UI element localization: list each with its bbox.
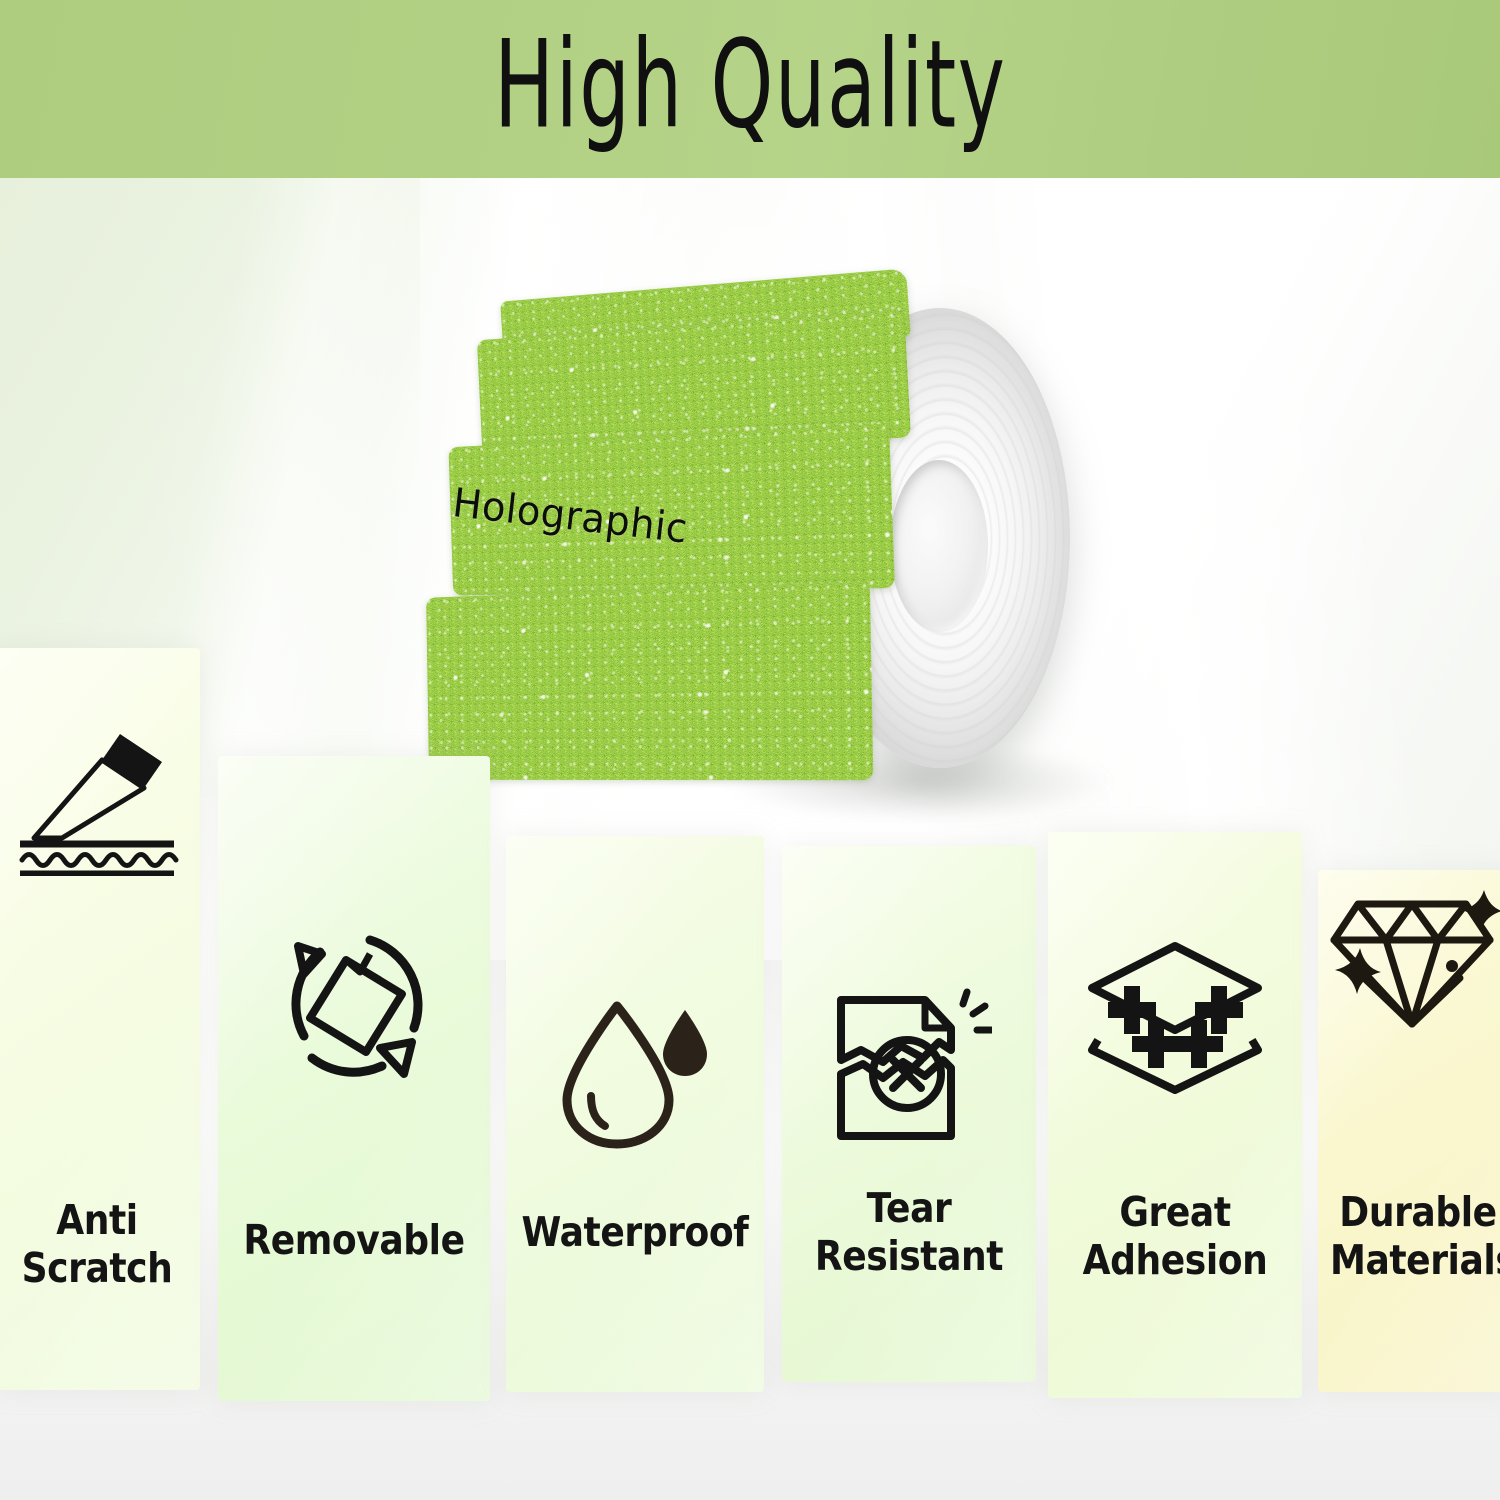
feature-panel-removable[interactable]: Removable bbox=[218, 756, 490, 1401]
feature-label: Removable bbox=[234, 1216, 473, 1264]
feature-label: Anti Scratch bbox=[6, 1196, 187, 1293]
product-infographic: High Quality Holographic bbox=[0, 0, 1500, 1500]
feature-panel-row: Anti Scratch Removable bbox=[0, 0, 1500, 1500]
panel-sheen bbox=[1048, 832, 1302, 1398]
feature-label: Waterproof bbox=[521, 1208, 748, 1256]
feature-panel-great-adhesion[interactable]: Great Adhesion bbox=[1048, 832, 1302, 1398]
recycle-arrows-label-icon bbox=[218, 924, 490, 1084]
feature-label: Durable Materials bbox=[1330, 1188, 1500, 1285]
feature-panel-anti-scratch[interactable]: Anti Scratch bbox=[0, 648, 200, 1390]
feature-label: Tear Resistant bbox=[797, 1184, 1021, 1281]
feature-panel-tear-resistant[interactable]: Tear Resistant bbox=[782, 846, 1036, 1382]
feature-label: Great Adhesion bbox=[1063, 1188, 1287, 1285]
layers-plus-icon bbox=[1048, 940, 1302, 1095]
torn-paper-no-icon bbox=[782, 988, 1036, 1148]
feature-panel-waterproof[interactable]: Waterproof bbox=[506, 836, 764, 1392]
water-droplet-icon bbox=[506, 992, 764, 1152]
blade-over-surface-icon bbox=[0, 726, 200, 876]
diamond-sparkle-icon bbox=[1318, 888, 1500, 1038]
feature-panel-durable-materials[interactable]: Durable Materials bbox=[1318, 870, 1500, 1392]
